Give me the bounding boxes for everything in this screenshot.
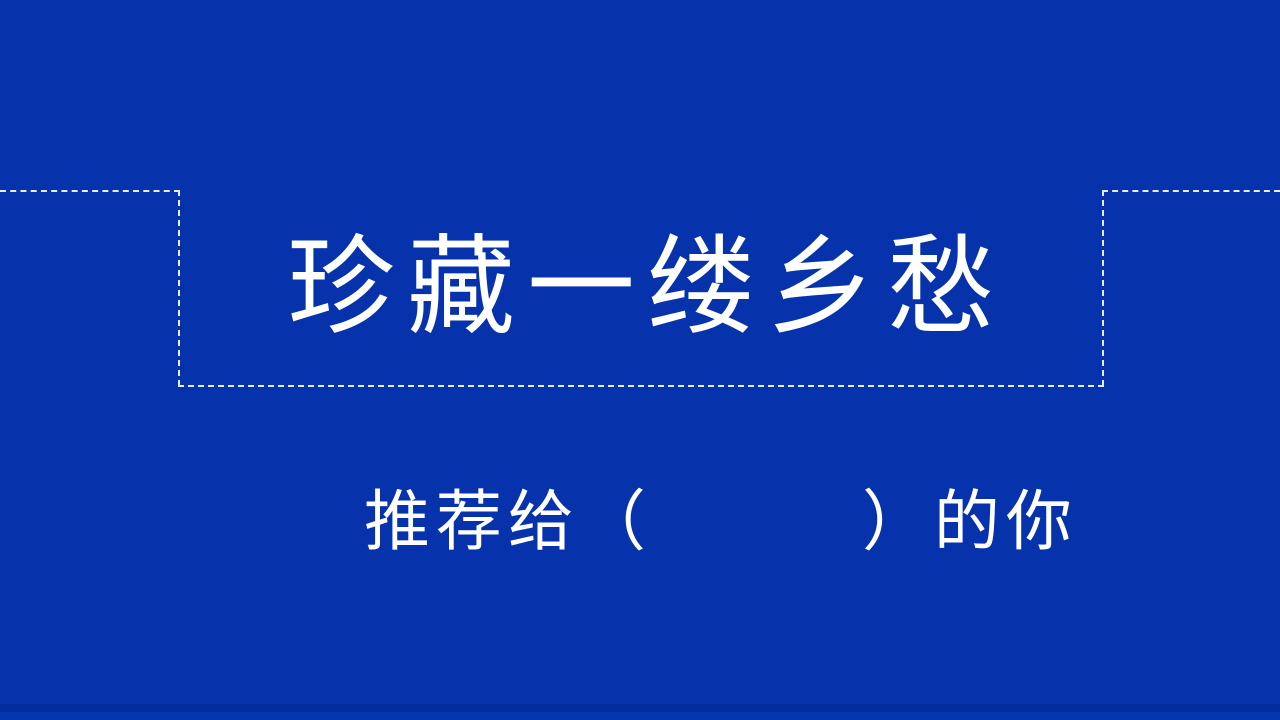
title-container: 珍藏一缕乡愁 <box>178 190 1104 386</box>
subtitle-text-before: 推荐给（ <box>364 483 652 560</box>
subtitle-container: 推荐给（）的你 <box>0 408 1280 636</box>
subtitle-text-after: ）的你 <box>862 483 1078 560</box>
slide-subtitle: 推荐给（）的你 <box>202 408 1078 636</box>
slide-title: 珍藏一缕乡愁 <box>275 234 1007 342</box>
title-slide: 珍藏一缕乡愁 推荐给（）的你 <box>0 0 1280 720</box>
bottom-band-dark <box>0 704 1280 712</box>
dashed-rule-top-right <box>1102 190 1280 192</box>
dashed-rule-top-left <box>0 190 180 192</box>
bottom-band-light <box>0 712 1280 720</box>
